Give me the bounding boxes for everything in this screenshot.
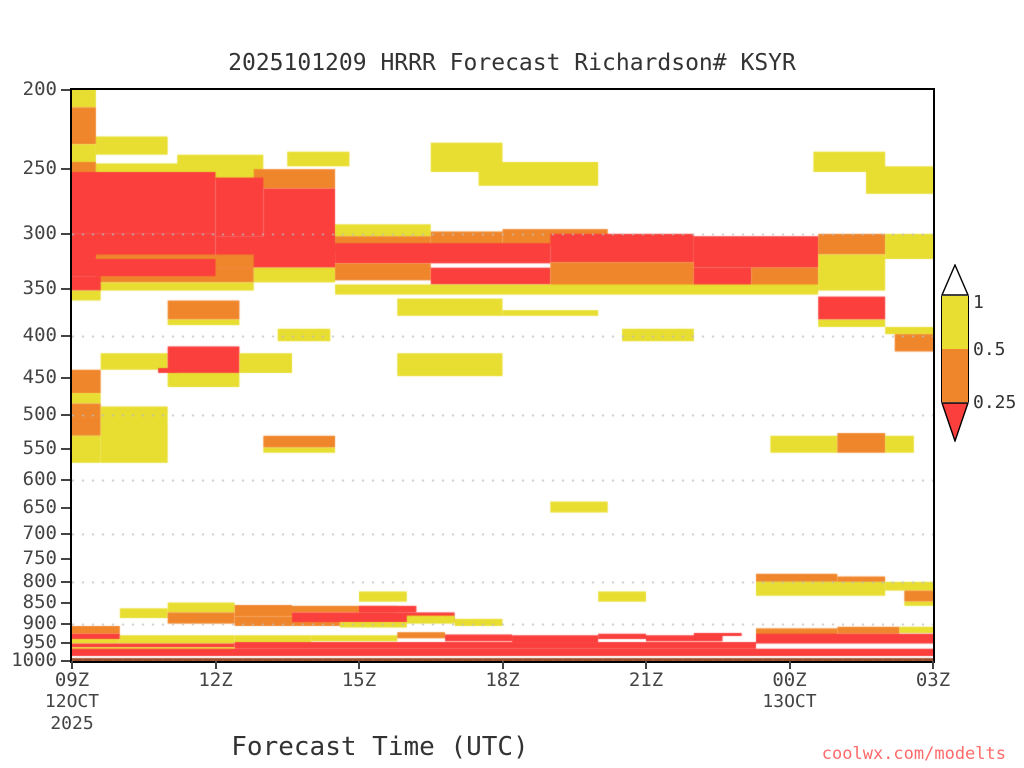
y-tick-label-800: 800 xyxy=(0,570,57,592)
y-tick-mark xyxy=(61,89,70,91)
x-tick-label-15Z: 15Z xyxy=(309,669,409,691)
y-tick-mark xyxy=(61,233,70,235)
x-tick-mark xyxy=(358,661,360,669)
y-tick-mark xyxy=(61,507,70,509)
colorbar-under-arrow-icon xyxy=(941,402,969,442)
y-tick-mark xyxy=(61,335,70,337)
x-tick-mark xyxy=(215,661,217,669)
y-tick-label-550: 550 xyxy=(0,437,57,459)
colorbar-label-0.25: 0.25 xyxy=(973,392,1016,413)
y-tick-label-750: 750 xyxy=(0,547,57,569)
y-tick-label-250: 250 xyxy=(0,157,57,179)
x-tick-date-13OCT: 13OCT xyxy=(740,691,840,712)
x-tick-mark xyxy=(789,661,791,669)
x-tick-label-21Z: 21Z xyxy=(596,669,696,691)
x-tick-mark xyxy=(645,661,647,669)
y-tick-label-500: 500 xyxy=(0,403,57,425)
y-tick-label-1000: 1000 xyxy=(0,649,57,671)
x-tick-label-00Z: 00Z xyxy=(740,669,840,691)
plot-area xyxy=(70,88,935,663)
y-tick-mark xyxy=(61,377,70,379)
y-tick-mark xyxy=(61,533,70,535)
x-tick-year-2025: 2025 xyxy=(22,713,122,734)
y-tick-mark xyxy=(61,642,70,644)
y-tick-mark xyxy=(61,168,70,170)
gridlines-canvas xyxy=(72,90,933,661)
y-tick-mark xyxy=(61,581,70,583)
colorbar-over-arrow-icon xyxy=(941,264,969,296)
y-tick-mark xyxy=(61,660,70,662)
x-axis-label: Forecast Time (UTC) xyxy=(0,732,760,762)
y-tick-label-200: 200 xyxy=(0,78,57,100)
colorbar-segment-0.25 xyxy=(941,349,969,402)
x-tick-mark xyxy=(71,661,73,669)
x-tick-label-12Z: 12Z xyxy=(166,669,266,691)
y-tick-mark xyxy=(61,414,70,416)
y-tick-label-300: 300 xyxy=(0,222,57,244)
colorbar-legend[interactable]: 10.50.25 xyxy=(941,296,969,456)
page-title: 2025101209 HRRR Forecast Richardson# KSY… xyxy=(0,50,1024,76)
y-tick-label-600: 600 xyxy=(0,468,57,490)
x-tick-mark xyxy=(932,661,934,669)
y-tick-label-450: 450 xyxy=(0,366,57,388)
chart-page: 2025101209 HRRR Forecast Richardson# KSY… xyxy=(0,0,1024,768)
x-tick-label-09Z: 09Z xyxy=(22,669,122,691)
colorbar-segment-0.5 xyxy=(941,296,969,349)
colorbar-label-0.5: 0.5 xyxy=(973,339,1006,360)
y-tick-label-400: 400 xyxy=(0,324,57,346)
y-tick-mark xyxy=(61,479,70,481)
y-tick-mark xyxy=(61,288,70,290)
watermark: coolwx.com/modelts xyxy=(822,744,1006,764)
colorbar-label-1: 1 xyxy=(973,292,984,313)
y-tick-mark xyxy=(61,602,70,604)
y-tick-mark xyxy=(61,623,70,625)
x-tick-date-12OCT: 12OCT xyxy=(22,691,122,712)
x-tick-label-03Z: 03Z xyxy=(883,669,983,691)
y-tick-label-850: 850 xyxy=(0,591,57,613)
y-tick-mark xyxy=(61,448,70,450)
y-tick-label-650: 650 xyxy=(0,496,57,518)
x-tick-mark xyxy=(502,661,504,669)
y-tick-label-700: 700 xyxy=(0,522,57,544)
y-tick-mark xyxy=(61,558,70,560)
x-tick-label-18Z: 18Z xyxy=(453,669,553,691)
y-tick-label-350: 350 xyxy=(0,277,57,299)
